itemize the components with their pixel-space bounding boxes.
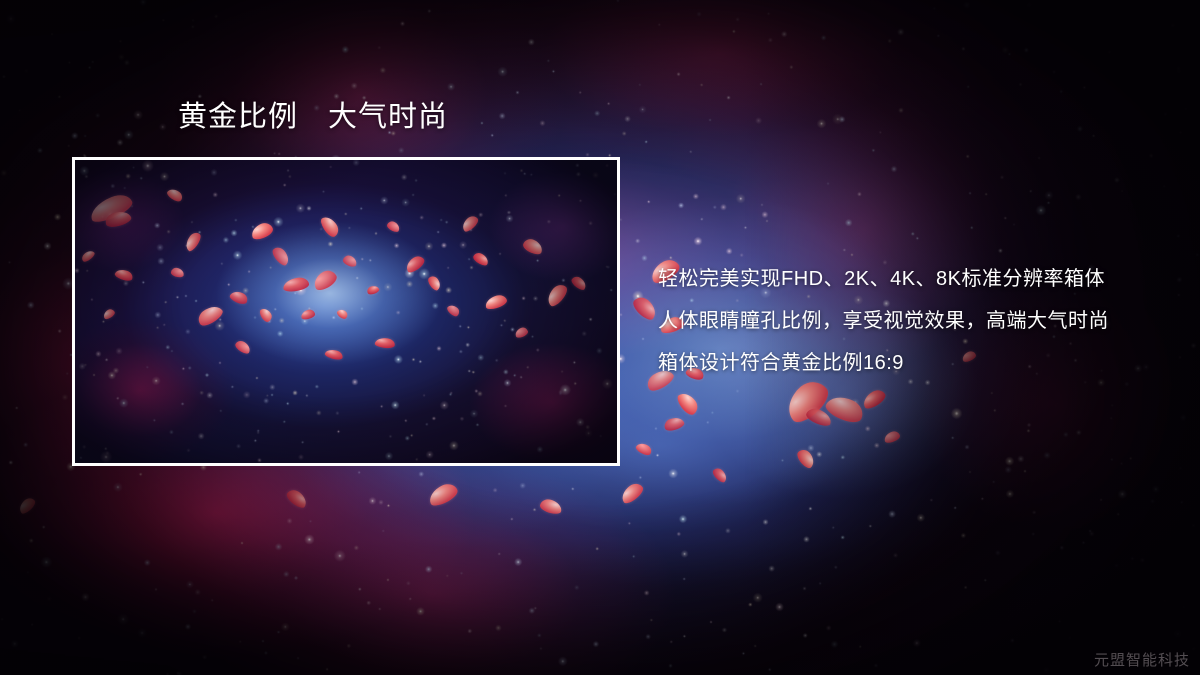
flower-petal	[102, 308, 116, 321]
flower-petal	[711, 466, 730, 484]
company-watermark: 元盟智能科技	[1094, 649, 1190, 670]
flower-petal	[663, 415, 686, 433]
flower-petal	[366, 284, 380, 296]
flower-petal	[166, 186, 185, 203]
flower-petal	[183, 230, 203, 253]
flower-petal	[426, 274, 443, 292]
flower-petal	[234, 339, 253, 356]
flower-petal	[570, 274, 589, 291]
flower-petal	[103, 208, 132, 229]
flower-petal	[823, 391, 867, 427]
framed-image-panel	[72, 157, 620, 466]
description-line-2: 人体眼睛瞳孔比例，享受视觉效果，高端大气时尚	[658, 300, 1178, 342]
flower-petal	[114, 267, 134, 283]
flower-petal	[460, 214, 481, 234]
flower-petal	[618, 480, 646, 505]
flower-petal	[675, 389, 701, 417]
flower-petal	[630, 294, 660, 323]
flower-petal	[80, 248, 96, 263]
slide-title: 黄金比例 大气时尚	[178, 103, 448, 132]
panel-petals-layer	[75, 160, 617, 463]
flower-petal	[374, 337, 395, 350]
flower-petal	[794, 447, 817, 471]
flower-petal	[544, 281, 570, 308]
flower-petal	[472, 251, 491, 267]
flower-petal	[170, 267, 184, 278]
flower-petal	[284, 487, 309, 510]
flower-petal	[539, 498, 563, 516]
flower-petal	[403, 253, 426, 274]
flower-petal	[17, 496, 38, 516]
flower-petal	[342, 254, 358, 268]
flower-petal	[195, 302, 225, 329]
flower-petal	[386, 220, 402, 234]
flower-petal	[324, 348, 344, 362]
flower-petal	[521, 237, 544, 257]
flower-petal	[635, 441, 654, 458]
flower-petal	[87, 190, 135, 225]
flower-petal	[300, 309, 316, 321]
flower-petal	[446, 303, 462, 319]
flower-petal	[514, 326, 529, 339]
flower-petal	[249, 221, 274, 242]
description-line-1: 轻松完美实现FHD、2K、4K、8K标准分辨率箱体	[658, 258, 1178, 300]
flower-petal	[484, 293, 508, 311]
flower-petal	[229, 289, 250, 307]
flower-petal	[804, 406, 833, 428]
flower-petal	[282, 276, 310, 292]
description-line-3: 箱体设计符合黄金比例16:9	[658, 342, 1178, 384]
flower-petal	[883, 430, 901, 444]
presentation-slide: 黄金比例 大气时尚 轻松完美实现FHD、2K、4K、8K标准分辨率箱体 人体眼睛…	[0, 0, 1200, 675]
flower-petal	[258, 306, 273, 323]
flower-petal	[319, 214, 342, 240]
flower-petal	[860, 387, 888, 411]
description-text-block: 轻松完美实现FHD、2K、4K、8K标准分辨率箱体 人体眼睛瞳孔比例，享受视觉效…	[658, 258, 1178, 384]
flower-petal	[336, 307, 350, 320]
flower-petal	[270, 245, 292, 268]
flower-petal	[311, 267, 340, 292]
flower-petal	[426, 480, 460, 508]
